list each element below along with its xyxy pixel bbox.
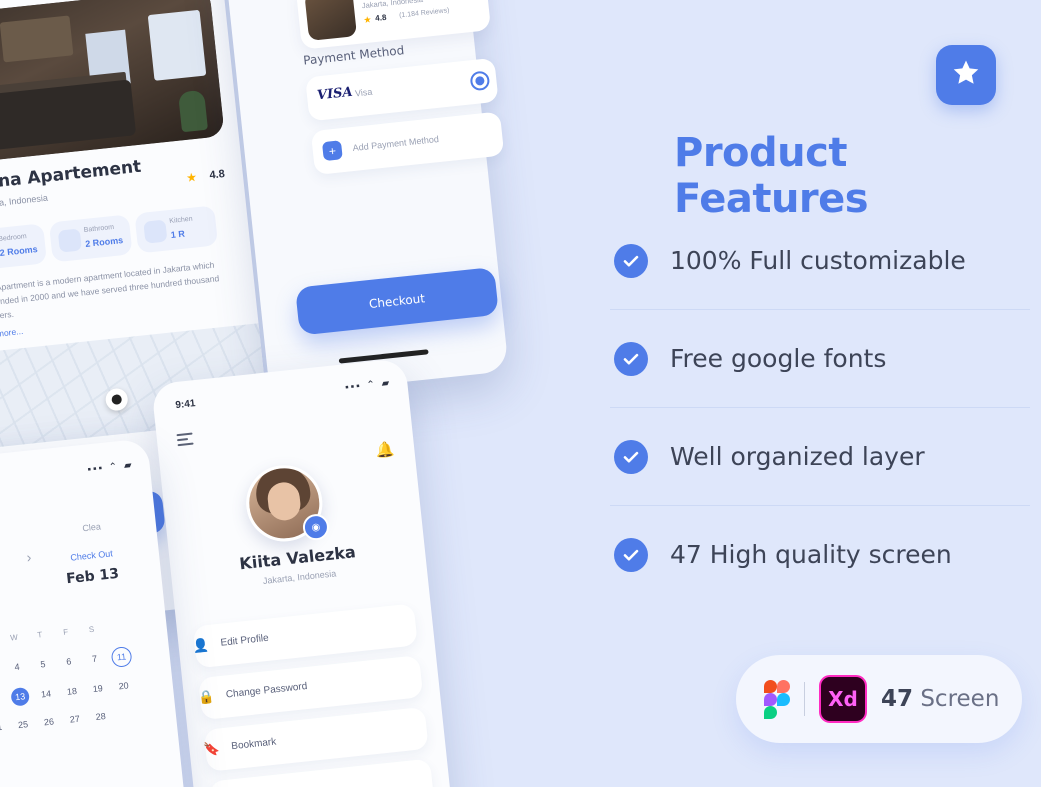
bookmark-icon: 🔖 (203, 741, 220, 759)
listing-rating: 4.8 (209, 168, 225, 182)
status-bar-icons: ▪▪▪ ⌃ ▰ (87, 460, 134, 476)
figma-icon (764, 680, 790, 718)
hotel-reviews: (1.184 Reviews) (399, 7, 450, 19)
calendar-day[interactable]: 7 (80, 643, 109, 674)
spec-value: 1 R (170, 229, 185, 240)
calendar-day[interactable]: 6 (54, 646, 83, 677)
star-icon: ★ (185, 170, 197, 185)
listing-title: Liliana Apartement (0, 157, 142, 196)
calendar-day[interactable]: 5 (29, 649, 58, 680)
feature-list: 100% Full customizable Free google fonts… (610, 212, 1030, 603)
star-icon (951, 58, 981, 93)
calendar-day[interactable]: 25 (9, 709, 38, 740)
feature-label: 47 High quality screen (670, 540, 952, 569)
phone-profile: 9:41 ▪▪▪ ⌃ ▰ 🔔 ◉ Kiita Valezka Jakarta, … (151, 358, 454, 787)
calendar-day[interactable]: 14 (32, 679, 61, 710)
feature-item: 100% Full customizable (610, 212, 1030, 310)
tools-card: Xd 47 Screen (736, 655, 1022, 743)
calendar-grid[interactable]: 3 4 5 6 7 11 12 13 14 18 19 20 21 25 26 … (0, 638, 165, 742)
screen-count-suffix: Screen (913, 686, 999, 712)
star-icon: ★ (363, 14, 372, 26)
read-more-link[interactable]: Read more... (0, 326, 24, 341)
status-bar-time: 9:41 (175, 398, 196, 411)
bath-icon (58, 228, 82, 252)
clear-button[interactable]: Clea (82, 521, 101, 533)
feature-item: 47 High quality screen (610, 506, 1030, 603)
calendar-day[interactable]: 27 (60, 704, 89, 735)
calendar-day[interactable]: 28 (86, 701, 115, 732)
camera-icon[interactable]: ◉ (302, 513, 331, 542)
spec-value: 2 Rooms (85, 235, 124, 249)
star-badge (936, 45, 996, 105)
calendar-day[interactable]: 20 (109, 671, 138, 702)
spec-chip-kitchen: Kitchen 1 R (134, 205, 218, 253)
hotel-thumbnail (304, 0, 357, 41)
menu-icon[interactable] (176, 433, 193, 450)
checkout-button[interactable]: Checkout (295, 267, 499, 336)
status-bar-icons: ▪▪▪ ⌃ ▰ (345, 378, 392, 394)
check-out-label: Check Out (70, 548, 113, 562)
bell-icon[interactable]: 🔔 (375, 440, 395, 460)
feature-label: 100% Full customizable (670, 246, 966, 275)
feature-label: Free google fonts (670, 344, 886, 373)
kitchen-icon (143, 219, 167, 243)
calendar-day-highlight[interactable]: 11 (111, 646, 133, 668)
calendar-day[interactable]: 19 (83, 673, 112, 704)
wall-art (0, 15, 73, 62)
hotel-summary-card: Liliana Apartement Jakarta, Indonesia ★ … (295, 0, 491, 50)
plant (178, 90, 208, 132)
page-title: Product Features (674, 130, 1034, 222)
check-icon (614, 440, 648, 474)
screen-count-number: 47 (881, 686, 913, 712)
check-icon (614, 538, 648, 572)
feature-item: Well organized layer (610, 408, 1030, 506)
calendar-day[interactable]: 4 (3, 652, 32, 683)
listing-hero-image (0, 0, 225, 164)
mockup-area: Liliana Apartement Jakarta, Indonesia ★ … (0, 0, 600, 787)
listing-description: Liliana Apartment is a modern apartment … (0, 257, 222, 325)
feature-label: Well organized layer (670, 442, 925, 471)
spec-chip-bedroom: Bedroom 2 Rooms (0, 223, 47, 271)
spec-label: Bedroom (0, 233, 27, 243)
hotel-location: Jakarta, Indonesia (361, 0, 423, 10)
spec-label: Kitchen (169, 216, 193, 225)
chevron-right-icon[interactable]: › (26, 549, 32, 565)
adobe-xd-icon: Xd (819, 675, 867, 723)
screen-count: 47 Screen (881, 686, 999, 712)
calendar-day[interactable]: 26 (35, 707, 64, 738)
window (148, 10, 207, 81)
listing-location: Jakarta, Indonesia (0, 193, 48, 211)
dow-label: T (26, 629, 53, 641)
calendar-day-selected[interactable]: 13 (10, 687, 30, 707)
dow-label: W (1, 632, 28, 644)
hotel-rating: 4.8 (375, 13, 387, 23)
dow-label: F (52, 626, 79, 638)
spec-chip-bathroom: Bathroom 2 Rooms (49, 214, 133, 262)
spec-value: 2 Rooms (0, 244, 38, 258)
spec-label: Bathroom (83, 224, 114, 234)
product-features-panel: Product Features 100% Full customizable … (600, 0, 1041, 787)
visa-label: Visa (355, 87, 373, 99)
plus-icon: + (322, 140, 343, 161)
check-out-date: Feb 13 (65, 566, 119, 587)
check-icon (614, 244, 648, 278)
dow-label: S (78, 624, 105, 636)
calendar-day[interactable]: 18 (58, 676, 87, 707)
feature-item: Free google fonts (610, 310, 1030, 408)
user-icon: 👤 (192, 637, 209, 655)
check-icon (614, 342, 648, 376)
calendar-day[interactable]: 12 (0, 684, 9, 715)
lock-icon: 🔒 (197, 689, 214, 707)
divider (804, 682, 805, 716)
